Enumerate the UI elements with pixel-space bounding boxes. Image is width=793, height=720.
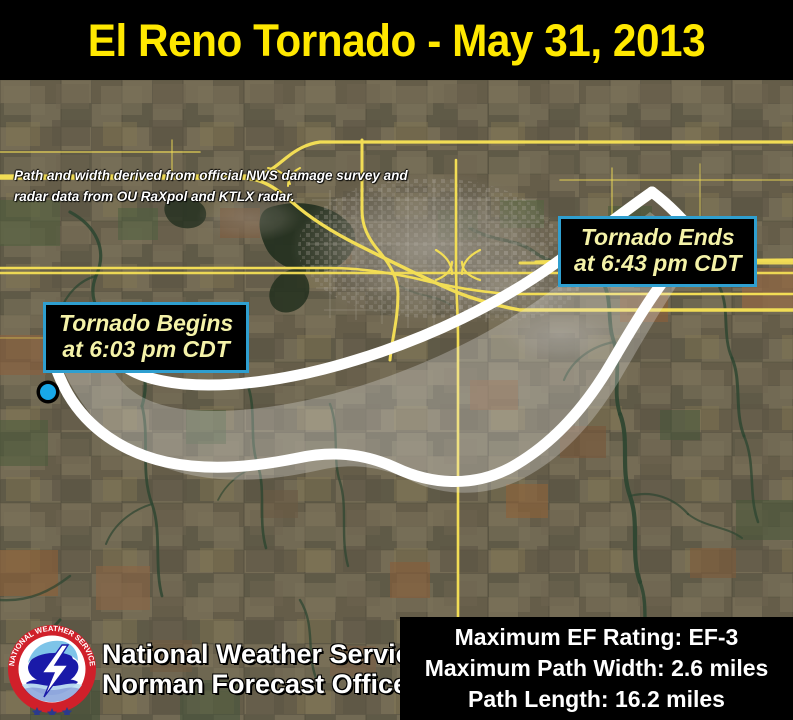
tornado-begin-marker [37,381,60,404]
tornado-stats-panel: Maximum EF Rating: EF-3 Maximum Path Wid… [400,617,793,720]
nws-logo-icon: NATIONAL WEATHER SERVICE [6,623,98,715]
nws-office-name: National Weather Service Norman Forecast… [102,639,426,699]
stat-max-path-width: Maximum Path Width: 2.6 miles [425,653,769,684]
callout-tornado-begins: Tornado Begins at 6:03 pm CDT [43,302,249,373]
callout-end-line-1: Tornado Ends [574,224,741,250]
map-caption: Path and width derived from official NWS… [14,166,444,208]
tornado-path-map-graphic: El Reno Tornado - May 31, 2013 [0,0,793,720]
title-bar: El Reno Tornado - May 31, 2013 [0,0,793,80]
stat-max-ef-rating: Maximum EF Rating: EF-3 [455,622,739,653]
callout-tornado-ends: Tornado Ends at 6:43 pm CDT [558,216,757,287]
callout-begin-line-2: at 6:03 pm CDT [59,336,233,362]
caption-line-1: Path and width derived from official NWS… [14,166,444,187]
page-title: El Reno Tornado - May 31, 2013 [88,18,705,63]
stat-path-length: Path Length: 16.2 miles [468,684,725,715]
callout-begin-line-1: Tornado Begins [59,310,233,336]
brand-line-1: National Weather Service [102,639,426,669]
nws-branding: NATIONAL WEATHER SERVICE National Weathe… [6,618,406,720]
caption-line-2: radar data from OU RaXpol and KTLX radar… [14,187,444,208]
brand-line-2: Norman Forecast Office [102,669,426,699]
callout-end-line-2: at 6:43 pm CDT [574,250,741,276]
